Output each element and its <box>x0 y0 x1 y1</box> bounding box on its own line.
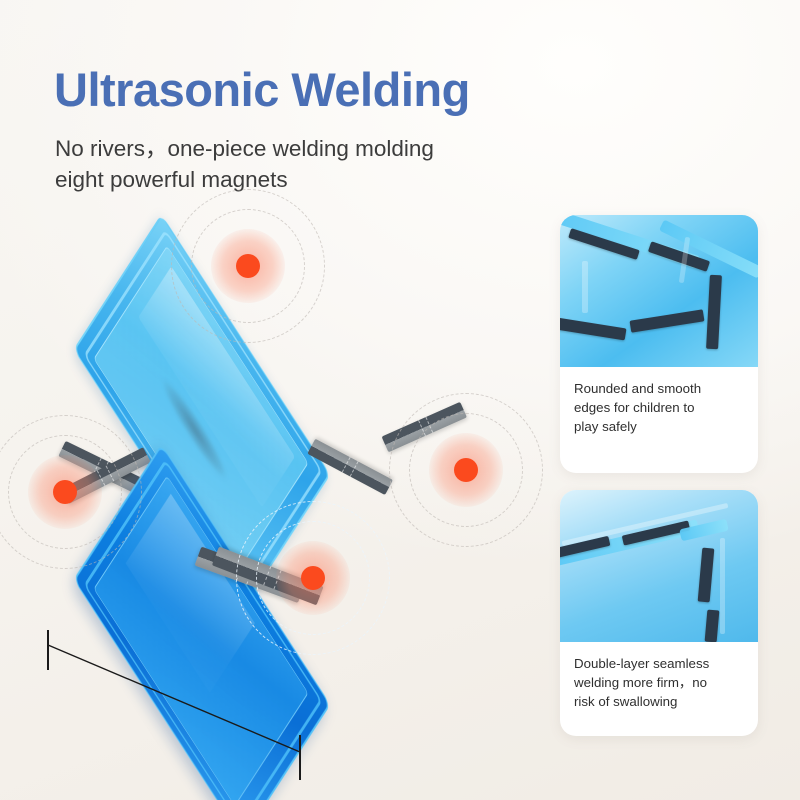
magnet-strip <box>705 610 720 642</box>
magnet-indicator-center <box>301 566 325 590</box>
magnet-indicator-right <box>454 458 478 482</box>
page-subtitle: No rivers，one-piece welding molding eigh… <box>55 133 434 195</box>
product-feature-graphic: Ultrasonic Welding No rivers，one-piece w… <box>0 0 800 800</box>
magnet-strip <box>560 318 627 341</box>
caption-line-2: welding more firm，no <box>574 673 744 692</box>
caption-line-3: risk of swallowing <box>574 692 744 711</box>
caption-line-2: edges for children to <box>574 398 744 417</box>
caption-line-3: play safely <box>574 417 744 436</box>
gloss-highlight <box>582 261 588 313</box>
caption-line-1: Rounded and smooth <box>574 379 744 398</box>
feature-card-double-layer[interactable]: Double-layer seamless welding more firm，… <box>560 490 758 736</box>
magnet-strip <box>698 548 715 603</box>
gloss-highlight <box>720 538 725 634</box>
feature-card-caption-double-layer: Double-layer seamless welding more firm，… <box>560 642 758 725</box>
magnet-indicator-top <box>236 254 260 278</box>
magnet-indicator-left <box>53 480 77 504</box>
page-title: Ultrasonic Welding <box>54 62 470 117</box>
feature-card-photo-rounded-edges <box>560 215 758 367</box>
feature-card-photo-double-layer <box>560 490 758 642</box>
feature-card-caption-rounded-edges: Rounded and smooth edges for children to… <box>560 367 758 450</box>
magnet-bar-dash <box>350 461 359 476</box>
caption-line-1: Double-layer seamless <box>574 654 744 673</box>
feature-card-rounded-edges[interactable]: Rounded and smooth edges for children to… <box>560 215 758 473</box>
magnet-strip <box>706 275 722 350</box>
subtitle-line-1: No rivers，one-piece welding molding <box>55 133 434 164</box>
product-illustration: 7.5cm <box>0 190 560 800</box>
magnet-bar-dash <box>342 457 351 472</box>
magnet-strip <box>630 309 705 332</box>
